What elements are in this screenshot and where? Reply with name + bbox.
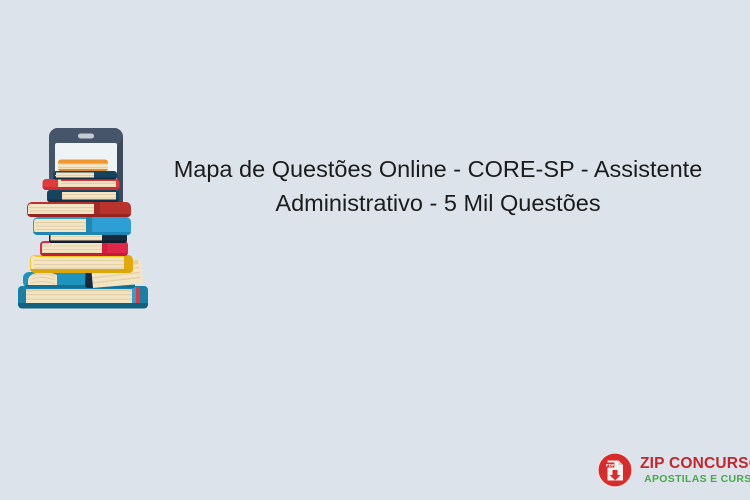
logo-title: ZIP CONCURSOS: [640, 456, 750, 472]
pdf-download-icon: PDF: [597, 452, 633, 488]
logo-subtitle: APOSTILAS E CURSOS: [640, 474, 750, 485]
book-crimson: [40, 241, 128, 256]
book-bottom-teal: [18, 286, 148, 309]
book-blue-large: [33, 217, 131, 235]
pdf-download-icon-svg: PDF: [597, 452, 633, 488]
svg-text:PDF: PDF: [606, 463, 615, 468]
book-top-cream-orange: [58, 160, 108, 172]
logo-text-block: ZIP CONCURSOS APOSTILAS E CURSOS: [640, 456, 750, 485]
zip-concursos-logo[interactable]: PDF ZIP CONCURSOS APOSTILAS E CURSOS: [597, 450, 743, 490]
page-title: Mapa de Questões Online - CORE-SP - Assi…: [160, 152, 716, 220]
book-navy: [47, 190, 119, 202]
book-red: [43, 179, 120, 190]
promo-banner: Mapa de Questões Online - CORE-SP - Assi…: [0, 0, 750, 500]
stack-of-books-with-tablet-illustration: [14, 126, 166, 312]
book-navy-thin-top: [53, 171, 117, 180]
book-maroon: [27, 202, 131, 217]
book-yellow: [30, 255, 133, 273]
books-illustration-svg: [14, 126, 166, 312]
banner-title-block: Mapa de Questões Online - CORE-SP - Assi…: [160, 136, 716, 235]
